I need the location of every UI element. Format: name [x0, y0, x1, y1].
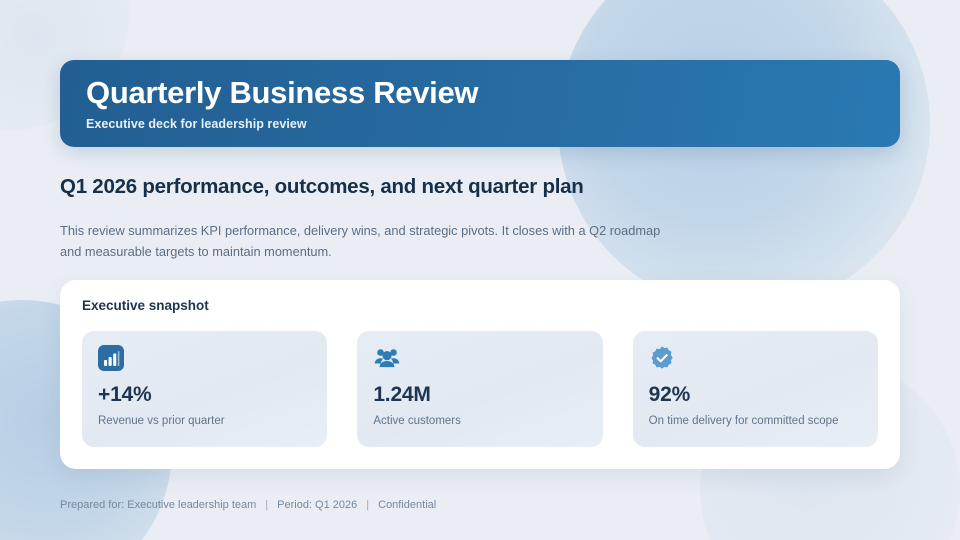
footer-prepared-for: Prepared for: Executive leadership team [60, 499, 256, 511]
executive-snapshot-card: Executive snapshot +14% Revenue vs prior… [60, 280, 900, 469]
slide-root: Quarterly Business Review Executive deck… [0, 0, 960, 540]
footer-separator-1: | [265, 499, 268, 511]
check-badge-icon [649, 345, 862, 371]
bar-chart-icon [98, 345, 311, 371]
footer-classification: Confidential [378, 499, 436, 511]
kpi-value: +14% [98, 383, 311, 407]
deck-title: Quarterly Business Review [86, 76, 900, 109]
kpi-value: 92% [649, 383, 862, 407]
kpi-row: +14% Revenue vs prior quarter 1.24M [82, 331, 878, 447]
footer-separator-2: | [366, 499, 369, 511]
intro-paragraph: This review summarizes KPI performance, … [60, 220, 670, 262]
section-heading: Q1 2026 performance, outcomes, and next … [60, 175, 740, 199]
title-banner: Quarterly Business Review Executive deck… [60, 60, 900, 147]
kpi-tile-revenue[interactable]: +14% Revenue vs prior quarter [82, 331, 327, 447]
kpi-label: On time delivery for committed scope [649, 415, 862, 427]
kpi-label: Active customers [373, 415, 586, 427]
kpi-label: Revenue vs prior quarter [98, 415, 311, 427]
kpi-tile-on-time-delivery[interactable]: 92% On time delivery for committed scope [633, 331, 878, 447]
deck-subtitle: Executive deck for leadership review [86, 117, 900, 131]
slide-footer: Prepared for: Executive leadership team … [60, 499, 436, 511]
kpi-tile-customers[interactable]: 1.24M Active customers [357, 331, 602, 447]
kpi-value: 1.24M [373, 383, 586, 407]
people-group-icon [373, 345, 586, 371]
snapshot-card-title: Executive snapshot [82, 298, 878, 313]
footer-period: Period: Q1 2026 [277, 499, 357, 511]
